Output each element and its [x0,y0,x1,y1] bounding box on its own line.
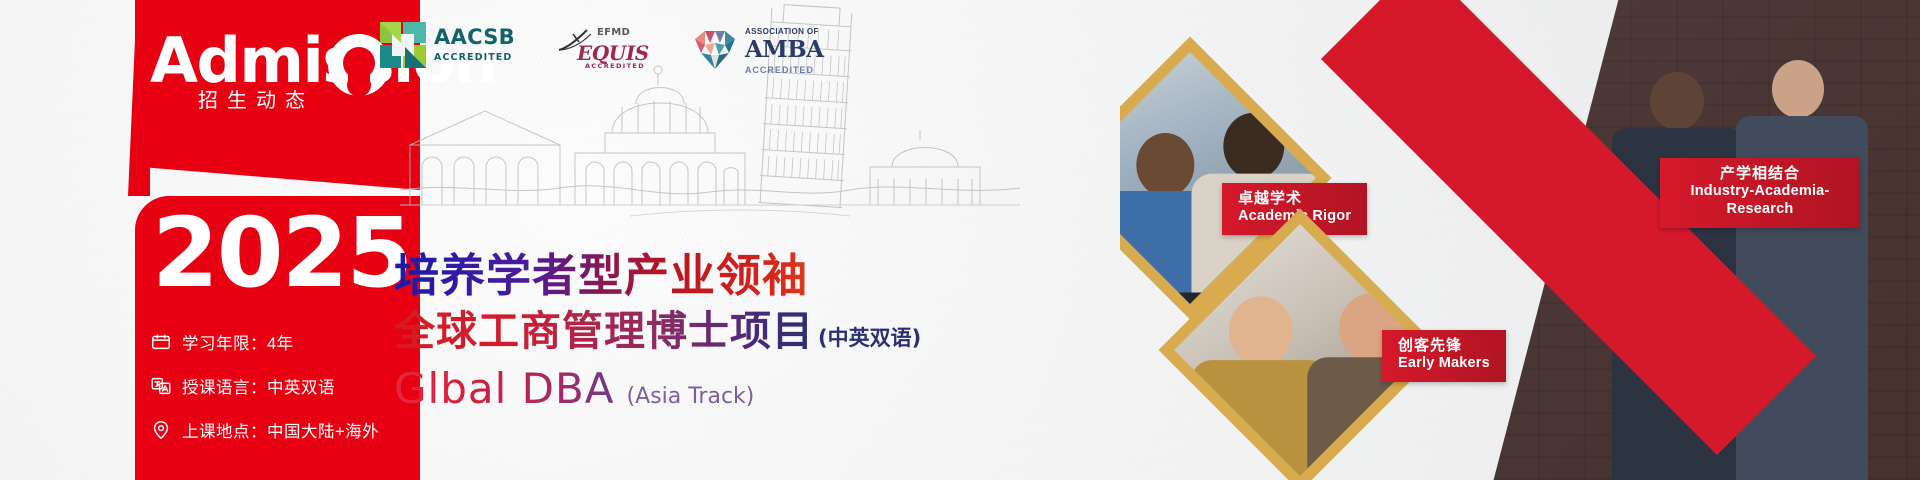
efmd-label: EFMD [597,27,630,38]
person-head [1772,60,1824,118]
calendar-icon [150,331,172,353]
amba-logo: ASSOCIATION OF AMBA ACCREDITED [691,22,824,77]
headline-block: 培养学者型产业领袖 全球工商管理博士项目 (中英双语) Glbal DBA (A… [394,252,1114,413]
amba-text-block: ASSOCIATION OF AMBA ACCREDITED [745,22,824,77]
label-cn-early-makers: 创客先锋 [1398,337,1490,355]
photo-collage: 卓越学术 Academic Rigor 产学相结合 Industry-Acade… [1120,0,1920,480]
equis-status: ACCREDITED [585,62,645,70]
info-label-location: 上课地点：中国大陆+海外 [182,418,379,442]
headline-line-2-row: 全球工商管理博士项目 (中英双语) [394,309,1114,354]
person-head [1229,296,1293,366]
headline-line-2-suffix: (中英双语) [818,322,921,352]
headline-line-3: Glbal DBA [394,364,615,413]
label-en-industry: Industry-Academia-Research [1676,183,1844,218]
person-head [1650,72,1704,130]
info-row-location: 上课地点：中国大陆+海外 [150,418,415,442]
accreditation-logos: AACSB ACCREDITED EFMD EQUIS ACCREDITED [380,22,824,77]
label-industry-academia-research: 产学相结合 Industry-Academia-Research [1660,158,1860,228]
headline-line-2: 全球工商管理博士项目 [394,309,814,354]
aacsb-text-block: AACSB ACCREDITED [434,27,515,64]
label-cn-academic-rigor: 卓越学术 [1238,190,1351,208]
aacsb-name: AACSB [434,25,515,49]
label-early-makers: 创客先锋 Early Makers [1382,330,1506,382]
admission-banner: Admission 招生动态 2025 学习年限：4年 [0,0,1920,480]
info-row-duration: 学习年限：4年 [150,330,415,354]
location-pin-icon [150,419,172,441]
amba-prefix: ASSOCIATION OF [745,27,819,36]
program-info-list: 学习年限：4年 授课语言：中英双语 [150,330,415,462]
left-red-panel: Admission 招生动态 2025 学习年限：4年 [0,0,420,480]
center-content: AACSB ACCREDITED EFMD EQUIS ACCREDITED [380,0,1120,480]
label-cn-industry: 产学相结合 [1676,165,1844,183]
aacsb-pinwheel-icon [380,22,426,68]
aacsb-logo: AACSB ACCREDITED [380,22,515,68]
equis-logo: EFMD EQUIS ACCREDITED [557,22,649,70]
language-icon [150,375,172,397]
headline-line-1: 培养学者型产业领袖 [394,252,1114,301]
headline-line-3-row: Glbal DBA (Asia Track) [394,364,1114,413]
amba-status: ACCREDITED [745,65,814,75]
person-head-shape [352,52,366,66]
headline-line-3-suffix: (Asia Track) [627,384,755,409]
person-head [1223,113,1284,180]
admission-chinese-label: 招生动态 [198,84,314,113]
info-label-duration: 学习年限：4年 [182,330,294,354]
amba-name: AMBA [745,36,824,63]
label-en-early-makers: Early Makers [1398,355,1490,373]
year-label: 2025 [152,205,411,301]
person-body-shape [348,60,370,90]
aacsb-status: ACCREDITED [434,52,512,63]
info-row-language: 授课语言：中英双语 [150,374,415,398]
person-head [1136,133,1194,197]
amba-gem-icon [691,27,739,73]
info-label-language: 授课语言：中英双语 [182,374,335,398]
